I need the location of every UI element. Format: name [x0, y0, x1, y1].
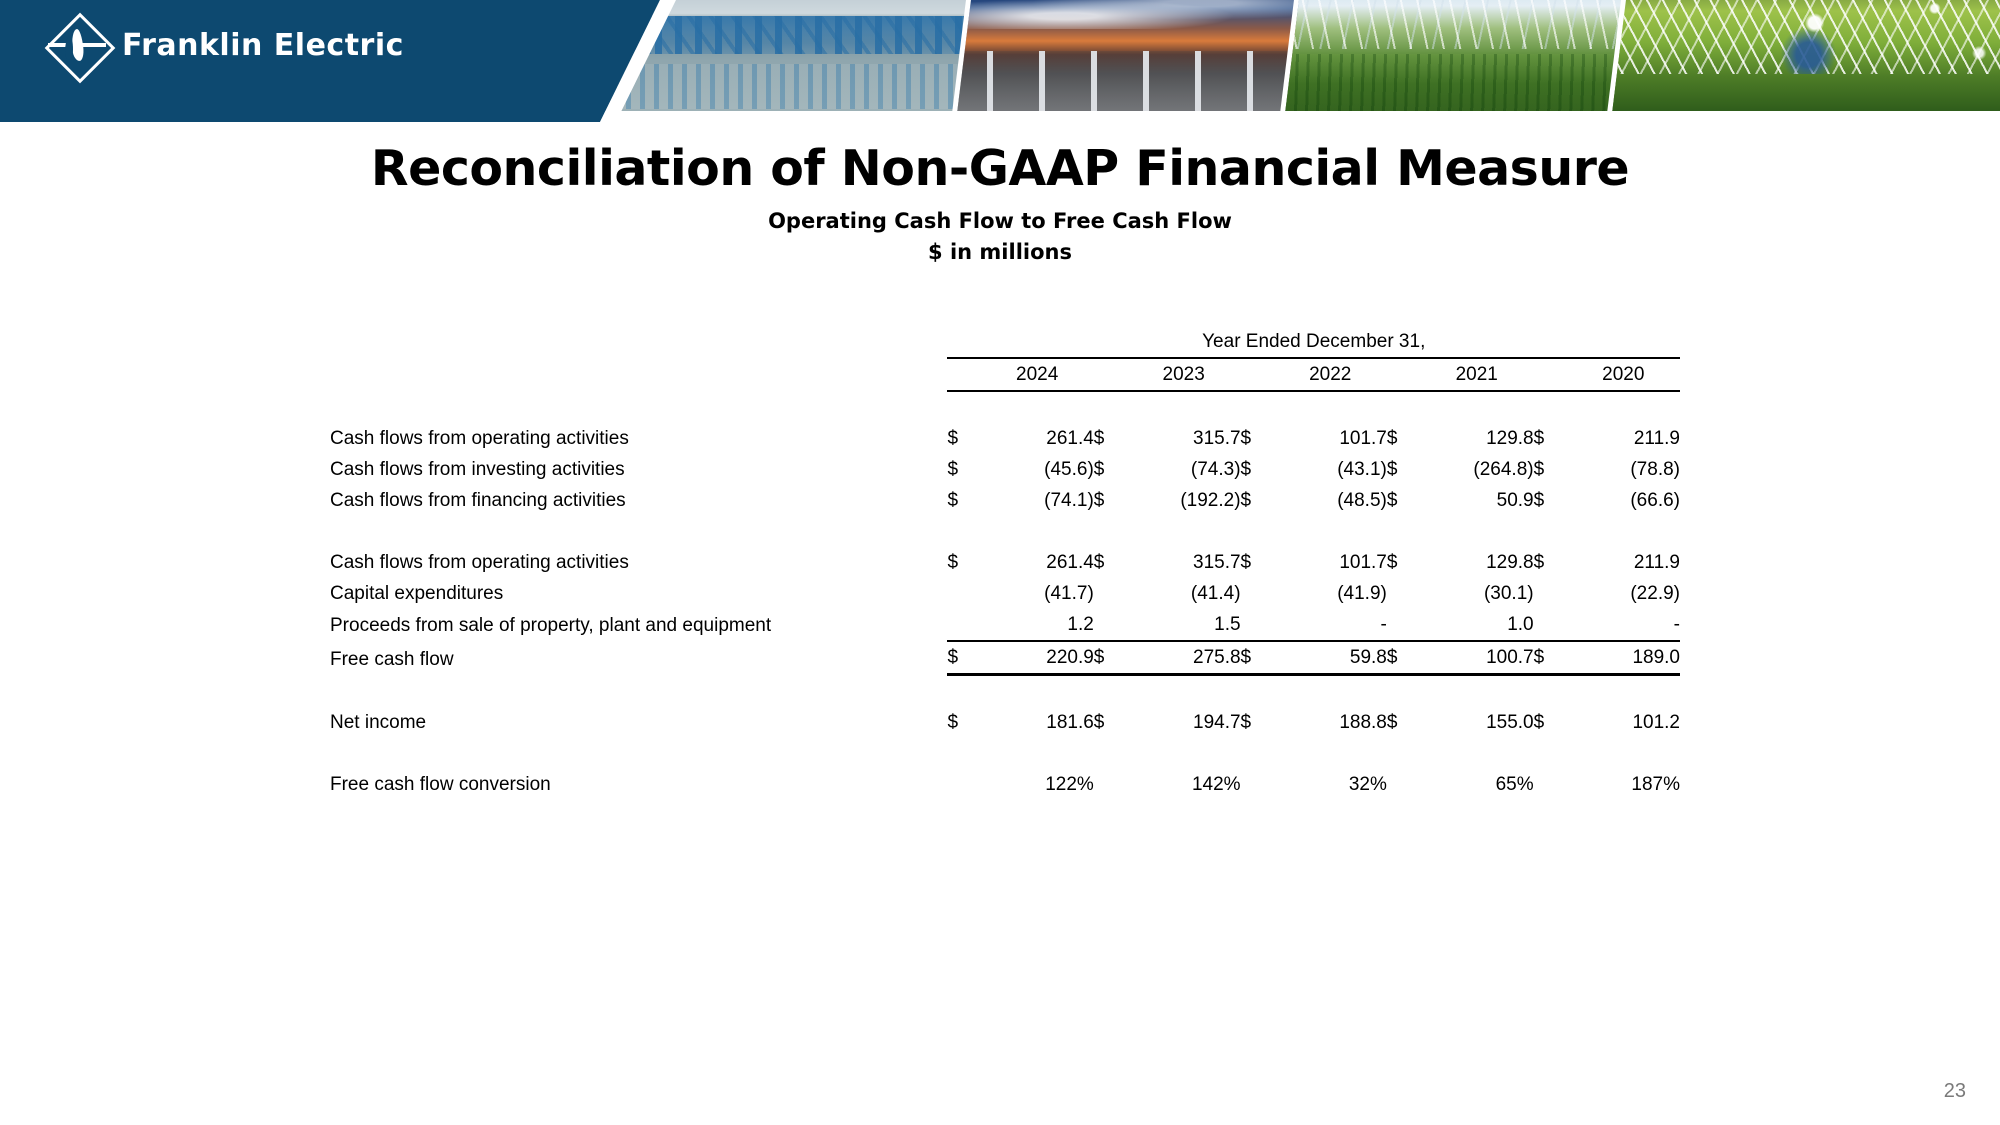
table-spacer: [330, 391, 1680, 423]
table-row: Free cash flow conversion 122% 142% 32% …: [330, 769, 1680, 800]
table-spacer: [330, 516, 1680, 547]
page-title: Reconciliation of Non-GAAP Financial Mea…: [0, 140, 2000, 197]
table-year-header-row: 2024 2023 2022 2021 2020: [330, 358, 1680, 391]
non-gaap-reconciliation-table: Year Ended December 31, 2024 2023 2022 2…: [330, 326, 1680, 800]
column-header-2021: 2021: [1420, 358, 1534, 391]
franklin-electric-diamond-logo-icon: [48, 16, 106, 74]
lawn-sprinkler-photo: [1607, 0, 2000, 111]
table-spacer: [330, 738, 1680, 769]
table-spacer: [330, 675, 1680, 708]
table-span-header-row: Year Ended December 31,: [330, 326, 1680, 358]
table-row: Cash flows from financing activities $ (…: [330, 485, 1680, 516]
table-row: Net income $ 181.6 $ 194.7 $ 188.8 $ 155…: [330, 707, 1680, 738]
table-row-total: Free cash flow $ 220.9 $ 275.8 $ 59.8 $ …: [330, 641, 1680, 675]
span-header-year-ended: Year Ended December 31,: [947, 326, 1680, 358]
column-header-2023: 2023: [1127, 358, 1241, 391]
page-units-note: $ in millions: [0, 240, 2000, 264]
center-pivot-irrigation-photo: [1280, 0, 1635, 111]
slide-header-band: Franklin Electric: [0, 0, 2000, 122]
table-row: Cash flows from operating activities $ 2…: [330, 423, 1680, 454]
column-header-2024: 2024: [981, 358, 1094, 391]
column-header-2020: 2020: [1567, 358, 1680, 391]
table-row: Cash flows from investing activities $ (…: [330, 454, 1680, 485]
page-subtitle: Operating Cash Flow to Free Cash Flow: [0, 209, 2000, 233]
column-header-2022: 2022: [1274, 358, 1387, 391]
brand-name: Franklin Electric: [122, 28, 404, 63]
table-row: Cash flows from operating activities $ 2…: [330, 547, 1680, 578]
franklin-electric-logo: Franklin Electric: [48, 16, 404, 74]
page-number: 23: [1944, 1080, 1966, 1103]
fuel-station-at-dusk-photo: [952, 0, 1307, 111]
table-row: Proceeds from sale of property, plant an…: [330, 609, 1680, 641]
table-row: Capital expenditures (41.7) (41.4) (41.9…: [330, 578, 1680, 609]
